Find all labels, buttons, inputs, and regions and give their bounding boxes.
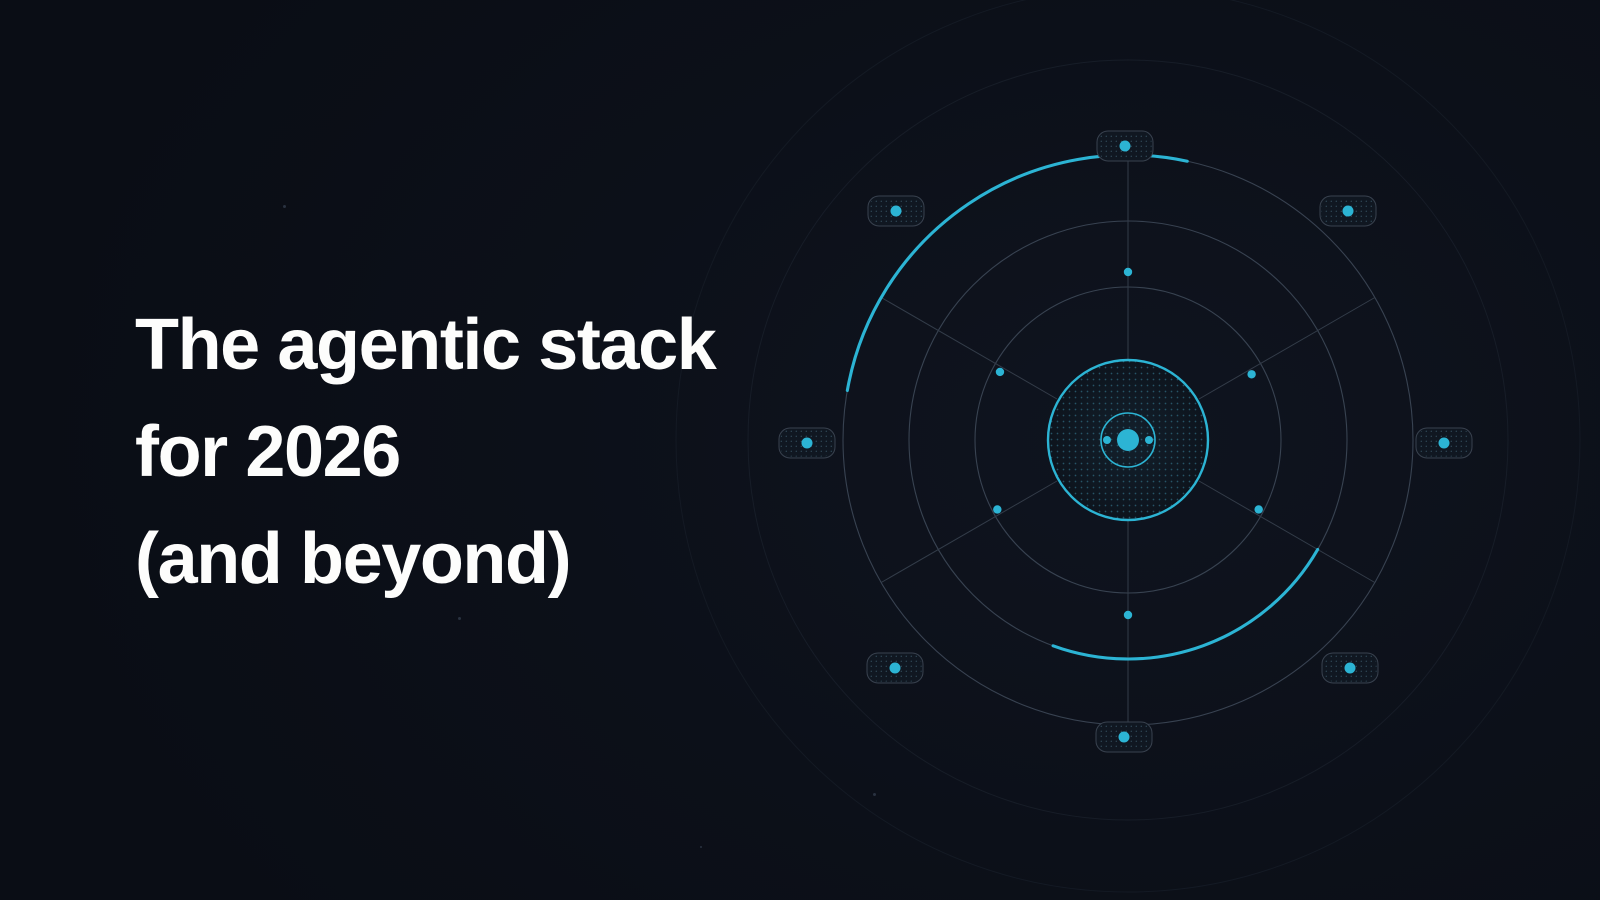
node-north-status-dot bbox=[1120, 141, 1131, 152]
node-northwest[interactable] bbox=[868, 196, 924, 226]
radial-spoke-2 bbox=[881, 298, 1057, 400]
ring-highlight-arc-2 bbox=[847, 155, 1187, 391]
dot-ne bbox=[1247, 370, 1255, 378]
node-east[interactable] bbox=[1416, 428, 1472, 458]
core-node[interactable] bbox=[1048, 360, 1208, 520]
node-east-status-dot bbox=[1439, 438, 1450, 449]
node-west[interactable] bbox=[779, 428, 835, 458]
core-satellite-dot-0 bbox=[1103, 436, 1111, 444]
dot-s-inner bbox=[1124, 611, 1132, 619]
node-southwest-status-dot bbox=[890, 663, 901, 674]
radial-spoke-4 bbox=[1199, 298, 1375, 400]
node-south[interactable] bbox=[1096, 722, 1152, 752]
dot-n-inner bbox=[1124, 268, 1132, 276]
hero-text-block: The agentic stack for 2026 (and beyond) bbox=[135, 292, 755, 613]
node-north[interactable] bbox=[1097, 131, 1153, 161]
node-south-status-dot bbox=[1119, 732, 1130, 743]
dot-nw bbox=[996, 368, 1004, 376]
core-satellite-dot-1 bbox=[1145, 436, 1153, 444]
node-west-status-dot bbox=[802, 438, 813, 449]
node-northeast-status-dot bbox=[1343, 206, 1354, 217]
dot-se bbox=[1254, 505, 1262, 513]
radial-spoke-5 bbox=[1199, 481, 1375, 583]
node-northwest-status-dot bbox=[891, 206, 902, 217]
node-southeast-status-dot bbox=[1345, 663, 1356, 674]
page-title: The agentic stack for 2026 (and beyond) bbox=[135, 292, 755, 613]
radial-spoke-1 bbox=[881, 481, 1057, 583]
node-southwest[interactable] bbox=[867, 653, 923, 683]
node-southeast[interactable] bbox=[1322, 653, 1378, 683]
node-northeast[interactable] bbox=[1320, 196, 1376, 226]
dot-sw bbox=[993, 505, 1001, 513]
core-center-dot bbox=[1117, 429, 1139, 451]
ring-highlight-arc-1 bbox=[1053, 550, 1318, 659]
